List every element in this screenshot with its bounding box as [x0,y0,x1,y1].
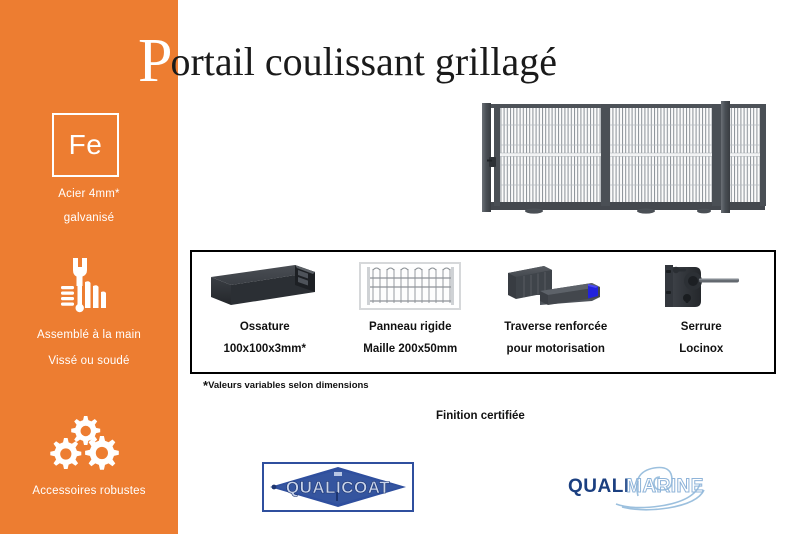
qualicoat-logo-graphic: QUALICOAT [264,464,412,510]
footnote: *Valeurs variables selon dimensions [203,380,369,392]
title-text: ortail coulissant grillagé [170,42,557,82]
sliding-mesh-gate-photo [478,95,770,220]
component-ossature: Ossature 100x100x3mm* [192,252,338,372]
component-name: Serrure [681,320,722,336]
qualimarine-logo-graphic: QUALI MARINE [560,462,730,512]
title-initial: P [138,30,172,92]
component-name-line2: pour motorisation [507,342,605,358]
rigid-mesh-panel-icon [358,261,462,311]
qualimarine-logo: QUALI MARINE [560,462,730,512]
component-panneau-rigide: Panneau rigide Maille 200x50mm [338,252,484,372]
qualicoat-logo: QUALICOAT [262,462,414,512]
component-name: Traverse renforcée [504,320,607,336]
feature-label-galvanise: galvanisé [0,212,178,224]
fe-symbol-label: Fe [54,115,117,175]
component-name: Panneau rigide [369,320,451,336]
gears-icon [48,412,126,478]
qualicoat-wordmark: QUALICOAT [286,478,390,497]
qualimarine-wordmark-b: MARINE [626,476,704,497]
component-name: Ossature [240,320,290,336]
footnote-text: Valeurs variables selon dimensions [208,380,369,391]
wrench-hand-icon [55,256,117,318]
motorisation-rail-icon [500,261,612,311]
component-spec: Maille 200x50mm [363,342,457,358]
component-spec: Locinox [679,342,723,358]
component-serrure: Serrure Locinox [629,252,775,372]
page-title: P ortail coulissant grillagé [138,24,557,84]
component-spec: 100x100x3mm* [224,342,307,358]
feature-label-accessoires: Accessoires robustes [0,485,178,497]
steel-tube-profile-icon [209,261,321,311]
certification-heading: Finition certifiée [436,410,525,422]
feature-label-assemble: Assemblé à la main [0,329,178,341]
lock-icon [655,261,747,311]
fe-box-icon: Fe [52,113,119,177]
feature-label-visse: Vissé ou soudé [0,355,178,367]
feature-label-acier: Acier 4mm* [0,188,178,200]
components-panel: Ossature 100x100x3mm* [190,250,776,374]
component-traverse: Traverse renforcée pour motorisation [483,252,629,372]
qualimarine-wordmark-a: QUALI [568,476,630,497]
product-sheet-page: Fe Acier 4mm* galvanisé A [0,0,800,534]
